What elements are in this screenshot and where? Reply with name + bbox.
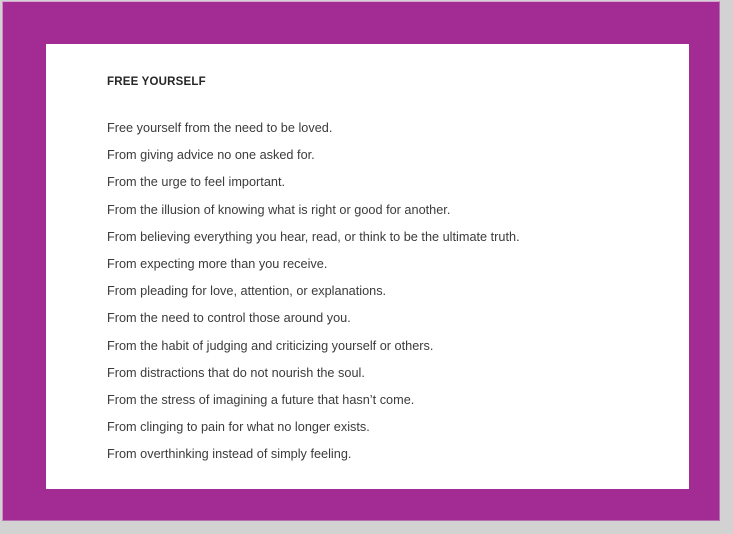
- list-item: From pleading for love, attention, or ex…: [107, 278, 681, 305]
- slide-canvas: FREE YOURSELF Free yourself from the nee…: [0, 0, 733, 534]
- affirmation-list: Free yourself from the need to be loved.…: [107, 115, 681, 469]
- list-item: From the habit of judging and criticizin…: [107, 333, 681, 360]
- list-item: From giving advice no one asked for.: [107, 142, 681, 169]
- slide-content: FREE YOURSELF Free yourself from the nee…: [107, 75, 681, 469]
- slide-purple-frame: FREE YOURSELF Free yourself from the nee…: [2, 1, 720, 521]
- list-item: From expecting more than you receive.: [107, 251, 681, 278]
- canvas-edge-right: [722, 0, 733, 534]
- list-item: From distractions that do not nourish th…: [107, 360, 681, 387]
- canvas-edge-bottom: [0, 522, 733, 534]
- page-title: FREE YOURSELF: [107, 75, 681, 89]
- list-item: From believing everything you hear, read…: [107, 224, 681, 251]
- list-item: From the stress of imagining a future th…: [107, 387, 681, 414]
- list-item: From the urge to feel important.: [107, 169, 681, 196]
- slide-white-panel: FREE YOURSELF Free yourself from the nee…: [46, 44, 689, 489]
- list-item: From clinging to pain for what no longer…: [107, 414, 681, 441]
- list-item: Free yourself from the need to be loved.: [107, 115, 681, 142]
- list-item: From overthinking instead of simply feel…: [107, 441, 681, 468]
- list-item: From the need to control those around yo…: [107, 305, 681, 332]
- list-item: From the illusion of knowing what is rig…: [107, 197, 681, 224]
